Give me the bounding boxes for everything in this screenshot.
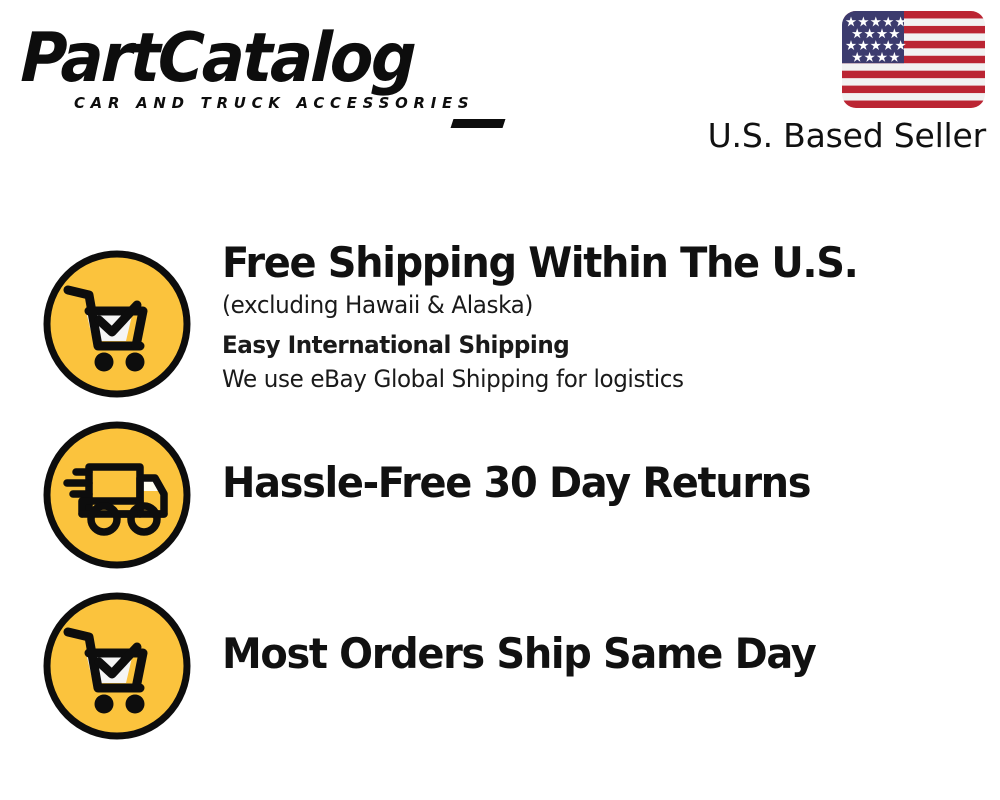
- us-based-seller-label: U.S. Based Seller: [708, 117, 986, 155]
- shopping-cart-check-icon: [42, 249, 192, 399]
- benefit-headline: Free Shipping Within The U.S.: [222, 238, 944, 288]
- benefit-text-returns: Hassle-Free 30 Day Returns: [222, 458, 982, 508]
- benefit-row-returns: Hassle-Free 30 Day Returns: [0, 406, 1000, 577]
- benefit-subtext-international-title: Easy International Shipping: [222, 328, 952, 362]
- brand-logo: PartCatalog CAR AND TRUCK ACCESSORIES: [22, 24, 492, 114]
- benefits-list: Free Shipping Within The U.S. (excluding…: [0, 235, 1000, 748]
- benefit-headline: Most Orders Ship Same Day: [222, 629, 944, 679]
- shopping-cart-check-icon: [42, 591, 192, 741]
- header-bar: PartCatalog CAR AND TRUCK ACCESSORIES: [0, 0, 1000, 175]
- brand-tagline-rule: [451, 119, 506, 128]
- delivery-truck-icon: [42, 420, 192, 570]
- brand-tagline: CAR AND TRUCK ACCESSORIES: [74, 94, 474, 112]
- benefit-subtext-international-detail: We use eBay Global Shipping for logistic…: [222, 362, 952, 396]
- benefit-headline: Hassle-Free 30 Day Returns: [222, 458, 944, 508]
- benefit-row-same-day: Most Orders Ship Same Day: [0, 577, 1000, 748]
- brand-wordmark: PartCatalog: [20, 24, 415, 94]
- benefit-row-free-shipping: Free Shipping Within The U.S. (excluding…: [0, 235, 1000, 406]
- benefit-text-same-day: Most Orders Ship Same Day: [222, 629, 982, 679]
- us-flag-icon: [842, 11, 985, 108]
- benefit-subtext-exclusions: (excluding Hawaii & Alaska): [222, 288, 952, 322]
- benefit-text-free-shipping: Free Shipping Within The U.S. (excluding…: [222, 238, 982, 396]
